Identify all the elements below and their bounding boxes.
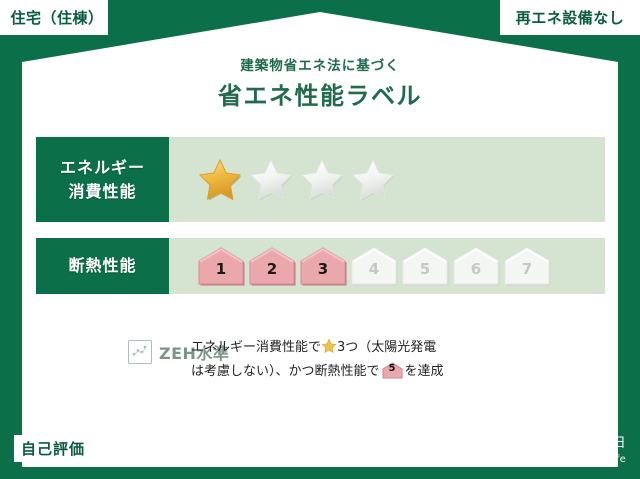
grade-number: 4	[369, 262, 379, 286]
self-evaluation-badge: 自己評価	[14, 435, 92, 462]
zeh-scatter-icon	[128, 340, 152, 364]
star-rating	[197, 157, 396, 203]
house-icon-inactive: 5	[401, 246, 449, 286]
footer-left-group: 自己評価 プレサンス天王寺ヴィヴァン	[14, 435, 285, 462]
building-type-label: 住宅（住棟）	[10, 7, 103, 28]
star-icon-filled	[197, 157, 243, 203]
star-icon-empty	[299, 157, 345, 203]
zeh-desc-house-value: 5	[382, 360, 403, 379]
energy-performance-row: エネルギー 消費性能	[36, 137, 605, 222]
zeh-description: エネルギー消費性能で3つ（太陽光発電 は考慮しない）、かつ断熱性能で5を達成	[191, 334, 605, 384]
house-icon-inactive: 4	[350, 246, 398, 286]
energy-label-line1: エネルギー	[60, 156, 145, 179]
grade-number: 3	[318, 262, 328, 286]
house-icon-active: 3	[299, 246, 347, 286]
zeh-desc-part1: エネルギー消費性能で	[191, 340, 321, 355]
evaluation-date: 評価日 2024年7月30日	[476, 431, 626, 451]
zeh-desc-part4: を達成	[405, 364, 444, 379]
energy-performance-label: 住宅（住棟） 再エネ設備なし 建築物省エネ法に基づく 省エネ性能ラベル エネルギ…	[0, 0, 640, 479]
insulation-performance-value: 1234567	[169, 238, 605, 294]
energy-performance-label: エネルギー 消費性能	[36, 137, 169, 222]
insulation-performance-label: 断熱性能	[36, 238, 169, 294]
house-icon-active: 1	[197, 246, 245, 286]
house-icon-active: 2	[248, 246, 296, 286]
star-icon	[321, 338, 337, 354]
grade-number: 7	[522, 262, 532, 286]
renewable-equipment-label: 再エネ設備なし	[516, 7, 625, 28]
house-icon-inactive: 6	[452, 246, 500, 286]
renewable-equipment-badge: 再エネ設備なし	[500, 0, 640, 35]
house-icon-inactive: 7	[503, 246, 551, 286]
insulation-label-line1: 断熱性能	[68, 254, 136, 277]
grade-number: 6	[471, 262, 481, 286]
footer: 自己評価 プレサンス天王寺ヴィヴァン 評価日 2024年7月30日 4ca83b…	[0, 423, 640, 479]
star-icon-empty	[350, 157, 396, 203]
building-name: プレサンス天王寺ヴィヴァン	[97, 439, 285, 459]
title-block: 建築物省エネ法に基づく 省エネ性能ラベル	[0, 58, 640, 112]
grade-number: 2	[267, 262, 277, 286]
footer-right-group: 評価日 2024年7月30日 4ca83bcd-2b22-4dfe	[476, 431, 626, 465]
zeh-desc-part2: 3つ（太陽光発電	[337, 340, 436, 355]
grade-scale: 1234567	[197, 246, 551, 286]
grade-number: 1	[216, 262, 226, 286]
zeh-desc-part3: は考慮しない）、かつ断熱性能で	[191, 364, 380, 379]
star-icon-empty	[248, 157, 294, 203]
zeh-note-area: ZEH水準 エネルギー消費性能で3つ（太陽光発電 は考慮しない）、かつ断熱性能で…	[36, 334, 605, 384]
insulation-performance-row: 断熱性能 1234567	[36, 238, 605, 294]
evaluation-id: 4ca83bcd-2b22-4dfe	[476, 454, 626, 465]
house-icon: 5	[382, 362, 403, 379]
title-subtitle: 建築物省エネ法に基づく	[0, 58, 640, 76]
page-title: 省エネ性能ラベル	[0, 80, 640, 112]
zeh-mark: ZEH水準	[36, 334, 191, 364]
grade-number: 5	[420, 262, 430, 286]
energy-label-line2: 消費性能	[68, 180, 136, 203]
energy-performance-value	[169, 137, 605, 222]
building-type-badge: 住宅（住棟）	[0, 0, 108, 35]
